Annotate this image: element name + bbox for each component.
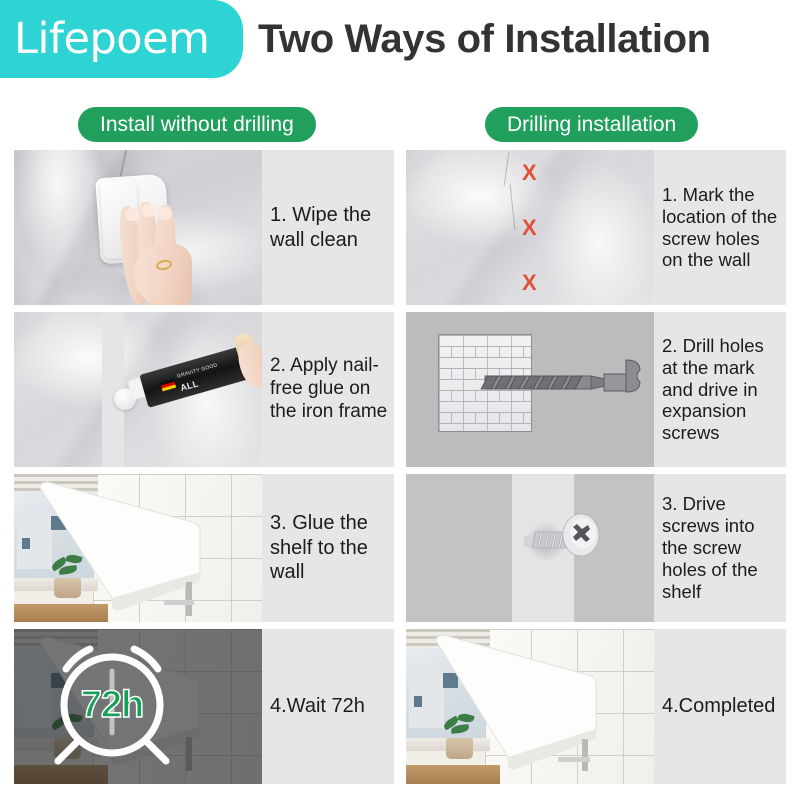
step-caption-left-2: 2. Apply nail-free glue on the iron fram… [262,312,394,467]
screw-icon [406,474,654,622]
step-card-right-2: 2. Drill holes at the mark and drive in … [406,312,786,467]
step-card-right-4: 4.Completed [406,629,786,784]
column-header-no-drilling: Install without drilling [78,107,316,142]
step-image-drill-diagram [406,312,654,467]
brand-logo-text: Lifepoem [0,14,209,64]
step-image-apply-glue: GRAVITY GOOD ALL [14,312,262,467]
fingernail [141,204,156,217]
drill-bit-icon [406,312,646,467]
step-card-left-1: 1. Wipe the wall clean [14,150,394,305]
step-card-left-4: 72h 4.Wait 72h [14,629,394,784]
x-mark-icon: X [522,160,537,186]
step-caption-left-1: 1. Wipe the wall clean [262,150,394,305]
step-card-left-2: GRAVITY GOOD ALL 2. Apply nail-free glue… [14,312,394,467]
step-image-wipe-wall [14,150,262,305]
alarm-clock-icon: 72h [14,629,262,784]
wait-duration-badge: 72h [62,684,162,727]
page-title: Two Ways of Installation [258,17,711,62]
brand-logo: Lifepoem [0,0,243,78]
hand-palm [134,244,192,305]
step-card-right-3: 3. Drive screws into the screw holes of … [406,474,786,622]
step-card-right-1: X X X 1. Mark the location of the screw … [406,150,786,305]
column-header-drilling: Drilling installation [485,107,698,142]
step-image-shelf-glued [14,474,262,622]
steps-grid: 1. Wipe the wall clean X X X 1. Mark the… [14,150,786,788]
step-caption-right-2: 2. Drill holes at the mark and drive in … [654,312,786,467]
x-mark-icon: X [522,270,537,296]
step-image-mark-holes: X X X [406,150,654,305]
step-caption-left-4: 4.Wait 72h [262,629,394,784]
x-mark-icon: X [522,215,537,241]
step-caption-right-3: 3. Drive screws into the screw holes of … [654,474,786,622]
step-caption-right-4: 4.Completed [654,629,786,784]
bathroom-scene [406,629,654,784]
column-headers: Install without drilling Drilling instal… [0,107,800,145]
fingernail [157,207,172,220]
bathroom-scene [14,474,262,622]
step-card-left-3: 3. Glue the shelf to the wall [14,474,394,622]
step-caption-left-3: 3. Glue the shelf to the wall [262,474,394,622]
page-header: Lifepoem Two Ways of Installation [0,0,800,96]
step-image-wait-72h: 72h [14,629,262,784]
wall-shelf [14,474,262,622]
german-flag-icon [160,379,176,392]
fingernail [125,208,140,221]
wall-shelf [406,629,654,784]
step-image-completed [406,629,654,784]
step-caption-right-1: 1. Mark the location of the screw holes … [654,150,786,305]
step-image-screw-closeup [406,474,654,622]
